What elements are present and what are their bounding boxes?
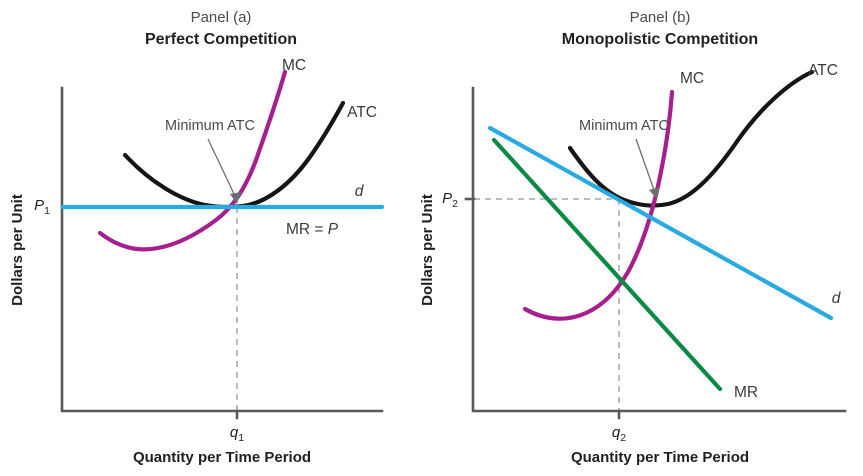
panel-a-title: Perfect Competition xyxy=(145,31,297,48)
panel-b-quantity-tick-sub: 2 xyxy=(620,432,626,444)
panel-a-x-axis-label: Quantity per Time Period xyxy=(133,449,311,466)
panel-b-panel-number: Panel (b) xyxy=(630,9,691,26)
panel-b-minimum-atc-label: Minimum ATC xyxy=(579,118,669,134)
panel-a-price-tick-sub: 1 xyxy=(44,205,50,217)
panel-a-panel-number: Panel (a) xyxy=(191,9,252,26)
panel-b-title: Monopolistic Competition xyxy=(562,31,758,48)
panel-b-x-axis-label: Quantity per Time Period xyxy=(571,449,749,466)
economics-figure: Panel (a) Perfect Competition Dollars pe… xyxy=(0,0,863,476)
panel-a-mr-equals-p-label: MR = P xyxy=(286,221,339,238)
panel-b-y-axis-label: Dollars per Unit xyxy=(419,194,436,306)
panel-b-mc-label: MC xyxy=(680,70,704,87)
panel-a-minimum-atc-label: Minimum ATC xyxy=(165,118,255,134)
panel-b-price-tick-sub: 2 xyxy=(452,198,458,210)
panel-b-atc-label: ATC xyxy=(808,62,838,79)
panel-a-price-tick-letter: P xyxy=(34,197,44,214)
panel-b-mr-label: MR xyxy=(734,384,758,401)
panel-a-demand-label: d xyxy=(355,183,365,200)
panel-b-demand-label: d xyxy=(832,290,842,307)
panel-a-atc-label: ATC xyxy=(347,104,377,121)
panel-b-price-tick-letter: P xyxy=(442,190,452,207)
panel-a-mc-label: MC xyxy=(282,57,306,74)
panel-a-y-axis-label: Dollars per Unit xyxy=(9,194,26,306)
panel-a-quantity-tick-sub: 1 xyxy=(238,432,244,444)
